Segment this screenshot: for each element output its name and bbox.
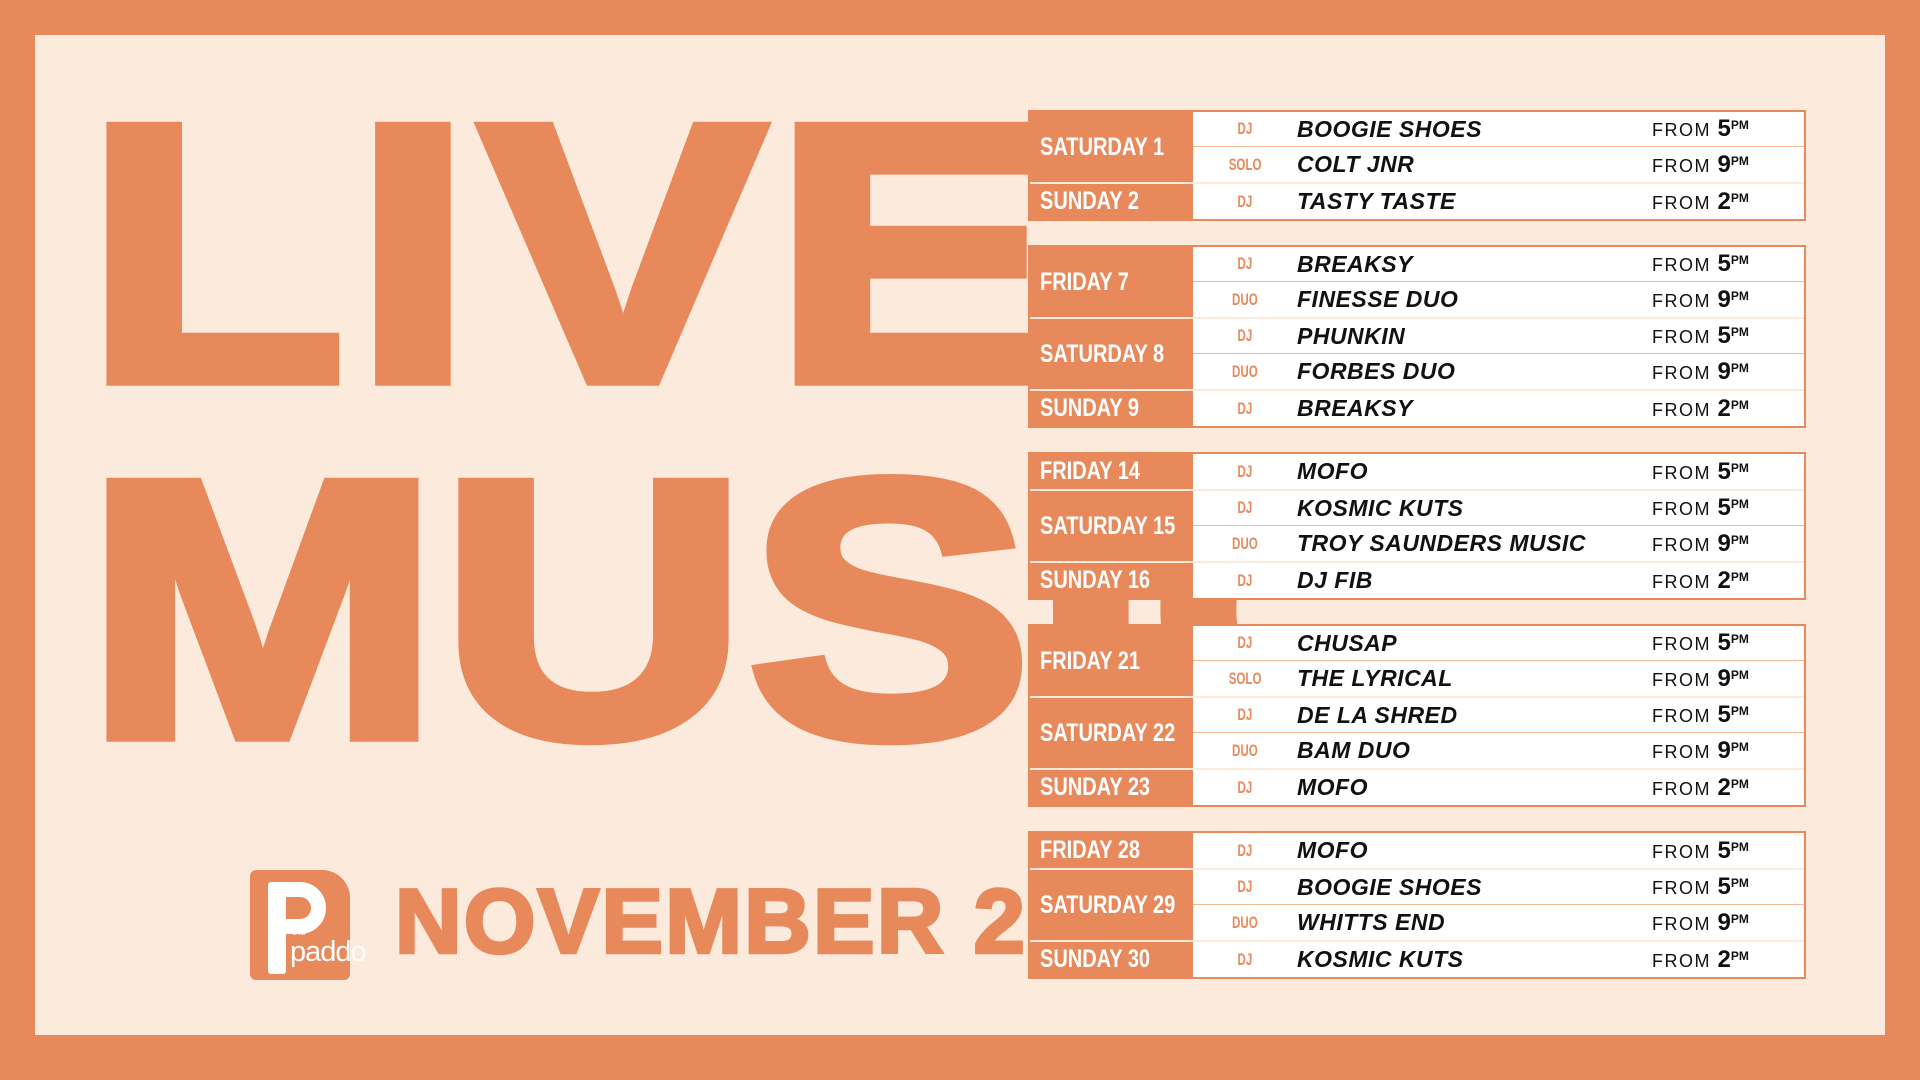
act-time-hour: 5 xyxy=(1718,458,1731,485)
hero-panel: LIVE MUSIC the paddo NOVEMBER 2025 xyxy=(75,70,1005,1000)
act-type-badge: DJ xyxy=(1193,498,1297,518)
schedule-block: FRIDAY 21DJCHUSAPFROM 5PMSOLOTHE LYRICAL… xyxy=(1028,624,1806,807)
act-name: BREAKSY xyxy=(1297,251,1644,278)
act-time-hour: 2 xyxy=(1718,567,1731,594)
day-group: FRIDAY 21DJCHUSAPFROM 5PMSOLOTHE LYRICAL… xyxy=(1030,626,1804,698)
act-name: FORBES DUO xyxy=(1297,358,1644,385)
act-type-label: DUO xyxy=(1232,290,1258,310)
schedule-block: FRIDAY 7DJBREAKSYFROM 5PMDUOFINESSE DUOF… xyxy=(1028,245,1806,428)
act-time: FROM 5PM xyxy=(1644,115,1804,143)
act-type-label: DJ xyxy=(1238,950,1253,970)
act-type-badge: DUO xyxy=(1193,913,1297,933)
act-name: MOFO xyxy=(1297,458,1644,485)
act-time: FROM 9PM xyxy=(1644,737,1804,765)
act-time-hour: 5 xyxy=(1718,629,1731,656)
act-row: DUOBAM DUOFROM 9PM xyxy=(1193,733,1804,768)
act-type-label: DJ xyxy=(1238,877,1253,897)
act-time: FROM 9PM xyxy=(1644,358,1804,386)
act-name: BOOGIE SHOES xyxy=(1297,874,1644,901)
act-row: DJDE LA SHREDFROM 5PM xyxy=(1193,698,1804,733)
act-time-hour: 5 xyxy=(1718,837,1731,864)
act-time-hour: 5 xyxy=(1718,322,1731,349)
act-time-hour: 2 xyxy=(1718,774,1731,801)
act-time-meridiem: PM xyxy=(1731,668,1749,682)
act-time-prefix: FROM xyxy=(1652,634,1711,654)
act-time: FROM 5PM xyxy=(1644,701,1804,729)
act-list: DJBREAKSYFROM 2PM xyxy=(1193,391,1804,426)
poster-canvas: LIVE MUSIC the paddo NOVEMBER 2025 SATUR… xyxy=(35,35,1885,1035)
act-name: CHUSAP xyxy=(1297,630,1644,657)
act-type-badge: DJ xyxy=(1193,571,1297,591)
act-type-label: DJ xyxy=(1238,192,1253,212)
day-group: SUNDAY 2DJTASTY TASTEFROM 2PM xyxy=(1030,184,1804,219)
act-time: FROM 2PM xyxy=(1644,567,1804,595)
act-row: DJMOFOFROM 5PM xyxy=(1193,833,1804,868)
date-cell: SUNDAY 16 xyxy=(1030,563,1193,598)
act-time-hour: 5 xyxy=(1718,250,1731,277)
act-type-badge: DJ xyxy=(1193,950,1297,970)
act-name: KOSMIC KUTS xyxy=(1297,946,1644,973)
act-time-prefix: FROM xyxy=(1652,463,1711,483)
act-time: FROM 5PM xyxy=(1644,629,1804,657)
day-group: SATURDAY 15DJKOSMIC KUTSFROM 5PMDUOTROY … xyxy=(1030,491,1804,563)
act-time: FROM 2PM xyxy=(1644,946,1804,974)
act-time-hour: 2 xyxy=(1718,395,1731,422)
act-list: DJTASTY TASTEFROM 2PM xyxy=(1193,184,1804,219)
schedule-block: FRIDAY 14DJMOFOFROM 5PMSATURDAY 15DJKOSM… xyxy=(1028,452,1806,600)
act-name: WHITTS END xyxy=(1297,909,1644,936)
act-type-badge: DJ xyxy=(1193,841,1297,861)
act-time-hour: 5 xyxy=(1718,115,1731,142)
act-name: BOOGIE SHOES xyxy=(1297,116,1644,143)
act-row: DJPHUNKINFROM 5PM xyxy=(1193,319,1804,354)
date-cell: SATURDAY 22 xyxy=(1030,698,1193,768)
act-row: DJKOSMIC KUTSFROM 2PM xyxy=(1193,942,1804,977)
date-cell: FRIDAY 14 xyxy=(1030,454,1193,489)
act-time-prefix: FROM xyxy=(1652,193,1711,213)
act-list: DJBOOGIE SHOESFROM 5PMSOLOCOLT JNRFROM 9… xyxy=(1193,112,1804,182)
act-name: DJ FIB xyxy=(1297,567,1644,594)
day-group: SATURDAY 29DJBOOGIE SHOESFROM 5PMDUOWHIT… xyxy=(1030,870,1804,942)
date-label: SUNDAY 9 xyxy=(1040,394,1162,423)
act-time-hour: 9 xyxy=(1718,358,1731,385)
act-name: MOFO xyxy=(1297,774,1644,801)
act-row: DJCHUSAPFROM 5PM xyxy=(1193,626,1804,661)
act-type-badge: DJ xyxy=(1193,192,1297,212)
date-cell: SATURDAY 15 xyxy=(1030,491,1193,561)
act-row: DJMOFOFROM 5PM xyxy=(1193,454,1804,489)
act-time-meridiem: PM xyxy=(1731,533,1749,547)
hero-wordmark: LIVE MUSIC xyxy=(85,110,1005,700)
act-name: COLT JNR xyxy=(1297,151,1644,178)
act-time-prefix: FROM xyxy=(1652,951,1711,971)
date-cell: SATURDAY 1 xyxy=(1030,112,1193,182)
act-row: DJBREAKSYFROM 2PM xyxy=(1193,391,1804,426)
date-label: SUNDAY 30 xyxy=(1040,945,1162,974)
day-group: SATURDAY 22DJDE LA SHREDFROM 5PMDUOBAM D… xyxy=(1030,698,1804,770)
act-time-prefix: FROM xyxy=(1652,535,1711,555)
date-label: SATURDAY 1 xyxy=(1040,133,1164,162)
day-group: FRIDAY 28DJMOFOFROM 5PM xyxy=(1030,833,1804,870)
act-time: FROM 2PM xyxy=(1644,774,1804,802)
act-type-badge: DJ xyxy=(1193,705,1297,725)
act-time-meridiem: PM xyxy=(1731,777,1749,791)
act-type-badge: DJ xyxy=(1193,254,1297,274)
act-time: FROM 5PM xyxy=(1644,250,1804,278)
act-name: KOSMIC KUTS xyxy=(1297,495,1644,522)
act-type-badge: DJ xyxy=(1193,877,1297,897)
act-time-prefix: FROM xyxy=(1652,572,1711,592)
act-list: DJBOOGIE SHOESFROM 5PMDUOWHITTS ENDFROM … xyxy=(1193,870,1804,940)
act-time-meridiem: PM xyxy=(1731,840,1749,854)
act-time-meridiem: PM xyxy=(1731,361,1749,375)
act-name: TASTY TASTE xyxy=(1297,188,1644,215)
day-group: SATURDAY 8DJPHUNKINFROM 5PMDUOFORBES DUO… xyxy=(1030,319,1804,391)
act-row: SOLOTHE LYRICALFROM 9PM xyxy=(1193,661,1804,696)
act-row: DJBREAKSYFROM 5PM xyxy=(1193,247,1804,282)
act-time: FROM 5PM xyxy=(1644,873,1804,901)
act-row: DUOWHITTS ENDFROM 9PM xyxy=(1193,905,1804,940)
act-time: FROM 5PM xyxy=(1644,837,1804,865)
date-label: FRIDAY 21 xyxy=(1040,647,1162,676)
act-list: DJKOSMIC KUTSFROM 2PM xyxy=(1193,942,1804,977)
date-cell: SATURDAY 8 xyxy=(1030,319,1193,389)
act-list: DJPHUNKINFROM 5PMDUOFORBES DUOFROM 9PM xyxy=(1193,319,1804,389)
act-time: FROM 5PM xyxy=(1644,494,1804,522)
act-type-badge: DUO xyxy=(1193,741,1297,761)
act-time-meridiem: PM xyxy=(1731,461,1749,475)
act-row: SOLOCOLT JNRFROM 9PM xyxy=(1193,147,1804,182)
day-group: SUNDAY 30DJKOSMIC KUTSFROM 2PM xyxy=(1030,942,1804,977)
act-row: DJDJ FIBFROM 2PM xyxy=(1193,563,1804,598)
act-type-badge: DJ xyxy=(1193,462,1297,482)
act-time-prefix: FROM xyxy=(1652,255,1711,275)
the-paddo-logo: the paddo xyxy=(250,870,350,980)
act-type-label: DJ xyxy=(1238,498,1253,518)
act-time-hour: 9 xyxy=(1718,286,1731,313)
act-time: FROM 9PM xyxy=(1644,665,1804,693)
act-list: DJDE LA SHREDFROM 5PMDUOBAM DUOFROM 9PM xyxy=(1193,698,1804,768)
act-type-badge: SOLO xyxy=(1193,155,1297,175)
act-time: FROM 2PM xyxy=(1644,188,1804,216)
act-time-meridiem: PM xyxy=(1731,289,1749,303)
act-type-label: DUO xyxy=(1232,913,1258,933)
act-type-badge: DJ xyxy=(1193,633,1297,653)
act-type-badge: DJ xyxy=(1193,399,1297,419)
act-list: DJMOFOFROM 5PM xyxy=(1193,454,1804,489)
date-label: SATURDAY 8 xyxy=(1040,340,1164,369)
act-name: BAM DUO xyxy=(1297,737,1644,764)
date-cell: SATURDAY 29 xyxy=(1030,870,1193,940)
act-list: DJMOFOFROM 2PM xyxy=(1193,770,1804,805)
date-label: SATURDAY 15 xyxy=(1040,512,1175,541)
act-time: FROM 9PM xyxy=(1644,909,1804,937)
act-time-prefix: FROM xyxy=(1652,706,1711,726)
act-time-prefix: FROM xyxy=(1652,779,1711,799)
act-type-badge: DUO xyxy=(1193,362,1297,382)
date-label: FRIDAY 14 xyxy=(1040,457,1162,486)
act-name: BREAKSY xyxy=(1297,395,1644,422)
act-list: DJKOSMIC KUTSFROM 5PMDUOTROY SAUNDERS MU… xyxy=(1193,491,1804,561)
act-time: FROM 9PM xyxy=(1644,151,1804,179)
act-name: FINESSE DUO xyxy=(1297,286,1644,313)
act-time-meridiem: PM xyxy=(1731,949,1749,963)
act-time: FROM 2PM xyxy=(1644,395,1804,423)
date-label: FRIDAY 7 xyxy=(1040,268,1162,297)
act-type-label: DJ xyxy=(1238,326,1253,346)
act-time-prefix: FROM xyxy=(1652,400,1711,420)
date-label: SUNDAY 16 xyxy=(1040,566,1162,595)
date-label: SATURDAY 29 xyxy=(1040,891,1175,920)
act-time-hour: 9 xyxy=(1718,665,1731,692)
act-time-meridiem: PM xyxy=(1731,191,1749,205)
schedule-list: SATURDAY 1DJBOOGIE SHOESFROM 5PMSOLOCOLT… xyxy=(1028,110,1806,979)
logo-paddo-text: paddo xyxy=(290,938,366,967)
brand-row: the paddo NOVEMBER 2025 xyxy=(250,870,1010,1000)
schedule-block: SATURDAY 1DJBOOGIE SHOESFROM 5PMSOLOCOLT… xyxy=(1028,110,1806,221)
act-time-hour: 5 xyxy=(1718,701,1731,728)
date-label: SUNDAY 23 xyxy=(1040,773,1162,802)
act-row: DUOTROY SAUNDERS MUSICFROM 9PM xyxy=(1193,526,1804,561)
act-type-label: DUO xyxy=(1232,362,1258,382)
act-time-hour: 9 xyxy=(1718,909,1731,936)
act-time-prefix: FROM xyxy=(1652,742,1711,762)
act-time-meridiem: PM xyxy=(1731,118,1749,132)
act-row: DJBOOGIE SHOESFROM 5PM xyxy=(1193,870,1804,905)
act-time-hour: 9 xyxy=(1718,737,1731,764)
date-cell: SUNDAY 2 xyxy=(1030,184,1193,219)
act-type-badge: SOLO xyxy=(1193,669,1297,689)
act-type-label: DJ xyxy=(1238,571,1253,591)
act-row: DUOFORBES DUOFROM 9PM xyxy=(1193,354,1804,389)
act-row: DJTASTY TASTEFROM 2PM xyxy=(1193,184,1804,219)
act-time: FROM 9PM xyxy=(1644,530,1804,558)
act-time-meridiem: PM xyxy=(1731,740,1749,754)
act-type-label: DJ xyxy=(1238,254,1253,274)
act-time-hour: 2 xyxy=(1718,946,1731,973)
act-time-prefix: FROM xyxy=(1652,842,1711,862)
day-group: FRIDAY 7DJBREAKSYFROM 5PMDUOFINESSE DUOF… xyxy=(1030,247,1804,319)
act-list: DJMOFOFROM 5PM xyxy=(1193,833,1804,868)
act-type-badge: DUO xyxy=(1193,534,1297,554)
act-time-prefix: FROM xyxy=(1652,327,1711,347)
day-group: SUNDAY 16DJDJ FIBFROM 2PM xyxy=(1030,563,1804,598)
date-cell: FRIDAY 7 xyxy=(1030,247,1193,317)
act-time-prefix: FROM xyxy=(1652,363,1711,383)
act-type-badge: DJ xyxy=(1193,778,1297,798)
act-time-hour: 9 xyxy=(1718,530,1731,557)
act-time-prefix: FROM xyxy=(1652,878,1711,898)
day-group: SATURDAY 1DJBOOGIE SHOESFROM 5PMSOLOCOLT… xyxy=(1030,112,1804,184)
act-time: FROM 5PM xyxy=(1644,458,1804,486)
act-list: DJBREAKSYFROM 5PMDUOFINESSE DUOFROM 9PM xyxy=(1193,247,1804,317)
act-time-meridiem: PM xyxy=(1731,570,1749,584)
act-row: DJKOSMIC KUTSFROM 5PM xyxy=(1193,491,1804,526)
act-type-label: DJ xyxy=(1238,778,1253,798)
act-type-badge: DJ xyxy=(1193,119,1297,139)
act-time-hour: 2 xyxy=(1718,188,1731,215)
act-name: THE LYRICAL xyxy=(1297,665,1644,692)
date-cell: SUNDAY 23 xyxy=(1030,770,1193,805)
act-row: DJMOFOFROM 2PM xyxy=(1193,770,1804,805)
act-time-meridiem: PM xyxy=(1731,253,1749,267)
act-type-label: DJ xyxy=(1238,841,1253,861)
act-type-label: DJ xyxy=(1238,705,1253,725)
act-type-label: DUO xyxy=(1232,741,1258,761)
act-name: PHUNKIN xyxy=(1297,323,1644,350)
act-time: FROM 9PM xyxy=(1644,286,1804,314)
act-name: TROY SAUNDERS MUSIC xyxy=(1297,530,1644,557)
date-cell: SUNDAY 30 xyxy=(1030,942,1193,977)
act-row: DUOFINESSE DUOFROM 9PM xyxy=(1193,282,1804,317)
act-list: DJDJ FIBFROM 2PM xyxy=(1193,563,1804,598)
date-cell: FRIDAY 21 xyxy=(1030,626,1193,696)
act-type-label: DJ xyxy=(1238,119,1253,139)
act-time-prefix: FROM xyxy=(1652,914,1711,934)
schedule-block: FRIDAY 28DJMOFOFROM 5PMSATURDAY 29DJBOOG… xyxy=(1028,831,1806,979)
act-type-label: SOLO xyxy=(1229,155,1262,175)
act-list: DJCHUSAPFROM 5PMSOLOTHE LYRICALFROM 9PM xyxy=(1193,626,1804,696)
act-time-meridiem: PM xyxy=(1731,398,1749,412)
act-time-hour: 5 xyxy=(1718,494,1731,521)
act-row: DJBOOGIE SHOESFROM 5PM xyxy=(1193,112,1804,147)
act-time-prefix: FROM xyxy=(1652,670,1711,690)
day-group: FRIDAY 14DJMOFOFROM 5PM xyxy=(1030,454,1804,491)
act-time-meridiem: PM xyxy=(1731,704,1749,718)
act-time-meridiem: PM xyxy=(1731,912,1749,926)
act-type-label: DUO xyxy=(1232,534,1258,554)
date-cell: SUNDAY 9 xyxy=(1030,391,1193,426)
act-time-meridiem: PM xyxy=(1731,632,1749,646)
act-time-prefix: FROM xyxy=(1652,291,1711,311)
act-time-meridiem: PM xyxy=(1731,876,1749,890)
act-time-meridiem: PM xyxy=(1731,497,1749,511)
act-time-prefix: FROM xyxy=(1652,499,1711,519)
act-time-prefix: FROM xyxy=(1652,156,1711,176)
act-name: MOFO xyxy=(1297,837,1644,864)
act-time: FROM 5PM xyxy=(1644,322,1804,350)
act-type-label: SOLO xyxy=(1229,669,1262,689)
date-label: SUNDAY 2 xyxy=(1040,187,1162,216)
date-label: SATURDAY 22 xyxy=(1040,719,1175,748)
act-time-prefix: FROM xyxy=(1652,120,1711,140)
act-type-badge: DJ xyxy=(1193,326,1297,346)
act-name: DE LA SHRED xyxy=(1297,702,1644,729)
act-time-hour: 9 xyxy=(1718,151,1731,178)
act-time-meridiem: PM xyxy=(1731,154,1749,168)
day-group: SUNDAY 9DJBREAKSYFROM 2PM xyxy=(1030,391,1804,426)
act-time-meridiem: PM xyxy=(1731,325,1749,339)
act-type-label: DJ xyxy=(1238,462,1253,482)
act-type-label: DJ xyxy=(1238,399,1253,419)
act-time-hour: 5 xyxy=(1718,873,1731,900)
act-type-label: DJ xyxy=(1238,633,1253,653)
day-group: SUNDAY 23DJMOFOFROM 2PM xyxy=(1030,770,1804,805)
act-type-badge: DUO xyxy=(1193,290,1297,310)
date-cell: FRIDAY 28 xyxy=(1030,833,1193,868)
date-label: FRIDAY 28 xyxy=(1040,836,1162,865)
